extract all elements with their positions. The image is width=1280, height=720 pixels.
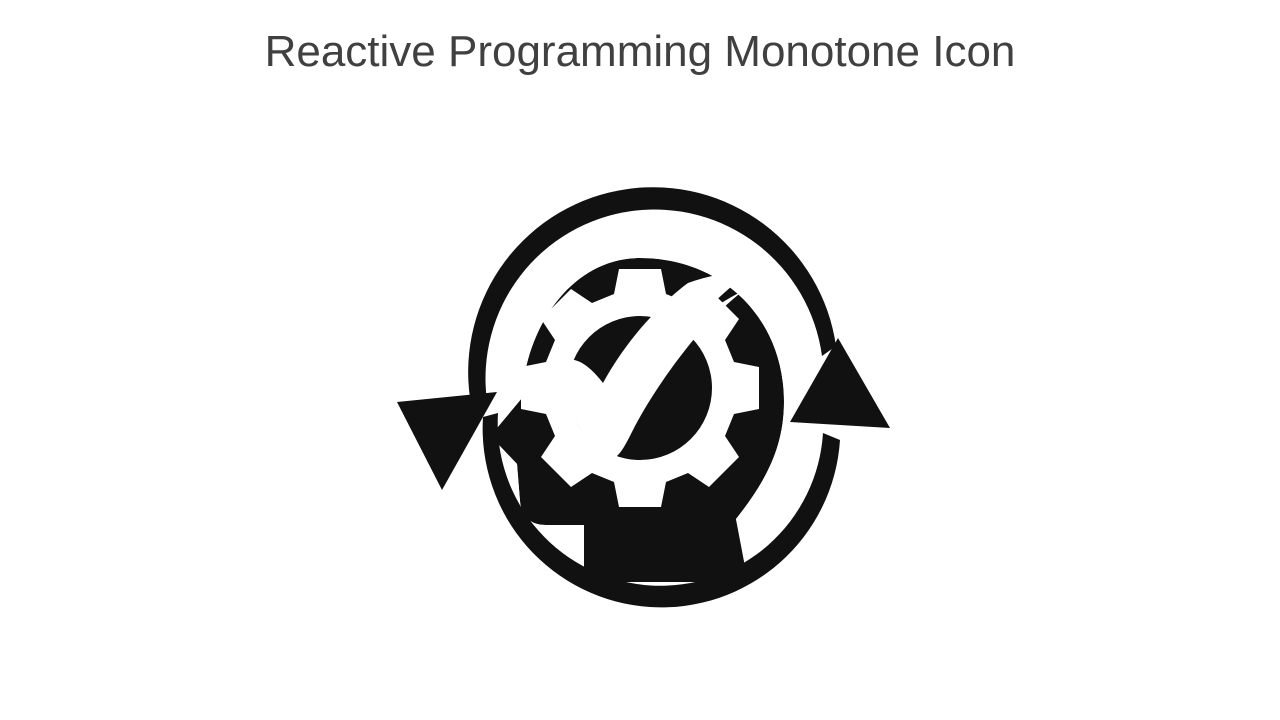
icon-svg [370,170,910,640]
arrow-head-left-down [397,392,497,490]
reactive-programming-monotone-icon [370,170,910,640]
arrow-head-right-up [790,338,890,428]
page-title: Reactive Programming Monotone Icon [0,27,1280,78]
slide-canvas: Reactive Programming Monotone Icon [0,0,1280,720]
